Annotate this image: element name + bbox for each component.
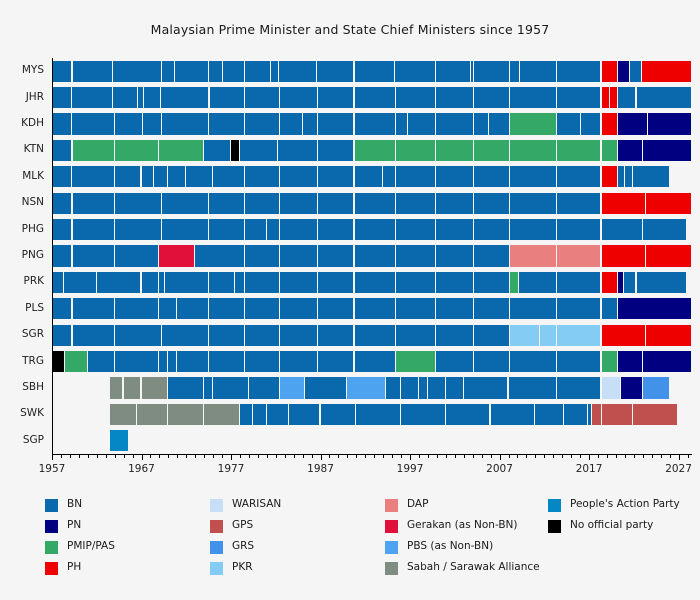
timeline-segment xyxy=(168,377,203,398)
timeline-segment xyxy=(396,113,407,134)
timeline-segment xyxy=(168,166,185,187)
timeline-segment xyxy=(177,298,207,319)
timeline-segment xyxy=(88,351,114,372)
timeline-chart: Malaysian Prime Minister and State Chief… xyxy=(0,0,700,600)
timeline-segment xyxy=(510,113,555,134)
timeline-segment xyxy=(162,113,207,134)
y-axis-label-nsn: NSN xyxy=(0,197,44,207)
chart-title: Malaysian Prime Minister and State Chief… xyxy=(0,22,700,37)
timeline-segment xyxy=(142,272,159,293)
timeline-segment xyxy=(318,87,354,108)
timeline-segment xyxy=(621,377,641,398)
timeline-segment xyxy=(446,377,463,398)
timeline-segment xyxy=(602,166,617,187)
timeline-segment xyxy=(602,404,631,425)
x-axis-tick-label: 1997 xyxy=(380,463,440,475)
timeline-segment xyxy=(408,113,435,134)
x-axis-tick-label: 2017 xyxy=(559,463,619,475)
timeline-segment xyxy=(52,61,71,82)
x-axis-tick xyxy=(500,454,501,460)
timeline-segment xyxy=(557,193,601,214)
timeline-segment xyxy=(213,377,248,398)
timeline-segment xyxy=(162,61,173,82)
timeline-segment xyxy=(318,245,354,266)
timeline-segment xyxy=(602,140,617,161)
timeline-segment xyxy=(159,351,167,372)
timeline-segment xyxy=(73,325,114,346)
timeline-segment xyxy=(138,87,143,108)
timeline-segment xyxy=(245,245,279,266)
timeline-segment xyxy=(110,430,128,451)
timeline-row-kdh xyxy=(52,113,692,134)
timeline-segment xyxy=(618,272,623,293)
x-axis-tick xyxy=(285,454,286,458)
timeline-segment xyxy=(280,219,316,240)
timeline-segment xyxy=(355,245,395,266)
timeline-segment xyxy=(209,61,222,82)
timeline-segment xyxy=(602,61,617,82)
x-axis-tick xyxy=(294,454,295,458)
x-axis-tick xyxy=(634,454,635,458)
timeline-segment xyxy=(115,193,161,214)
x-axis-tick xyxy=(455,454,456,458)
timeline-segment xyxy=(510,193,555,214)
timeline-segment xyxy=(474,140,509,161)
timeline-row-pls xyxy=(52,298,692,319)
legend-label: Gerakan (as Non-BN) xyxy=(407,519,518,531)
timeline-segment xyxy=(396,325,435,346)
timeline-segment xyxy=(557,325,601,346)
timeline-row-sgp xyxy=(52,430,692,451)
timeline-segment xyxy=(115,298,159,319)
timeline-segment xyxy=(602,272,617,293)
timeline-segment xyxy=(245,351,279,372)
timeline-segment xyxy=(321,404,356,425)
timeline-segment xyxy=(436,298,473,319)
timeline-segment xyxy=(209,351,245,372)
timeline-segment xyxy=(280,113,301,134)
timeline-segment xyxy=(471,61,473,82)
legend-label: PMIP/PAS xyxy=(67,540,115,552)
x-axis-tick xyxy=(356,454,357,458)
timeline-segment xyxy=(318,193,354,214)
timeline-segment xyxy=(428,377,445,398)
x-axis-tick xyxy=(213,454,214,458)
timeline-segment xyxy=(73,140,114,161)
timeline-segment xyxy=(510,298,555,319)
timeline-segment xyxy=(165,272,208,293)
legend-swatch-icon xyxy=(45,562,58,575)
timeline-segment xyxy=(245,87,279,108)
x-axis-tick xyxy=(142,454,143,460)
timeline-segment xyxy=(318,140,354,161)
timeline-segment xyxy=(557,351,601,372)
timeline-segment xyxy=(602,193,646,214)
x-axis-tick xyxy=(401,454,402,458)
timeline-segment xyxy=(279,61,315,82)
timeline-segment xyxy=(637,272,687,293)
x-axis-tick xyxy=(150,454,151,458)
timeline-segment xyxy=(436,219,473,240)
x-axis-tick xyxy=(598,454,599,458)
timeline-segment xyxy=(162,193,207,214)
timeline-segment xyxy=(73,219,114,240)
timeline-segment xyxy=(280,245,316,266)
x-axis-tick xyxy=(625,454,626,458)
timeline-row-trg xyxy=(52,351,692,372)
x-axis-tick xyxy=(329,454,330,458)
timeline-segment xyxy=(159,140,203,161)
timeline-segment xyxy=(643,219,687,240)
timeline-segment xyxy=(355,166,383,187)
timeline-segment xyxy=(209,113,245,134)
y-axis-label-prk: PRK xyxy=(0,276,44,286)
timeline-segment xyxy=(115,219,161,240)
timeline-row-phg xyxy=(52,219,692,240)
x-axis-tick xyxy=(195,454,196,458)
timeline-segment xyxy=(162,219,207,240)
x-axis-tick xyxy=(544,454,545,458)
timeline-segment xyxy=(355,298,395,319)
timeline-segment xyxy=(355,351,395,372)
timeline-segment xyxy=(110,377,122,398)
timeline-segment xyxy=(72,87,112,108)
timeline-segment xyxy=(474,351,509,372)
timeline-segment xyxy=(557,219,601,240)
x-axis-tick xyxy=(473,454,474,458)
legend-swatch-icon xyxy=(210,499,223,512)
timeline-segment xyxy=(278,140,316,161)
timeline-segment xyxy=(245,113,279,134)
timeline-segment xyxy=(401,404,445,425)
timeline-segment xyxy=(52,113,71,134)
timeline-segment xyxy=(73,61,112,82)
timeline-segment xyxy=(436,272,473,293)
timeline-segment xyxy=(210,87,245,108)
x-axis-tick xyxy=(553,454,554,458)
timeline-segment xyxy=(602,245,646,266)
timeline-segment xyxy=(245,193,279,214)
x-axis-tick xyxy=(464,454,465,458)
timeline-segment xyxy=(396,298,435,319)
timeline-segment xyxy=(646,325,691,346)
timeline-row-prk xyxy=(52,272,692,293)
x-axis-tick xyxy=(509,454,510,458)
timeline-segment xyxy=(64,272,96,293)
timeline-segment xyxy=(213,166,244,187)
x-axis-tick xyxy=(312,454,313,458)
timeline-segment xyxy=(154,166,167,187)
x-axis-tick xyxy=(688,454,689,458)
timeline-segment xyxy=(245,298,279,319)
timeline-segment xyxy=(474,298,509,319)
timeline-segment xyxy=(240,140,277,161)
timeline-segment xyxy=(113,87,137,108)
timeline-segment xyxy=(510,245,555,266)
timeline-segment xyxy=(633,404,678,425)
timeline-segment xyxy=(318,298,354,319)
timeline-segment xyxy=(557,61,601,82)
timeline-segment xyxy=(557,87,601,108)
timeline-segment xyxy=(436,61,470,82)
timeline-segment xyxy=(395,61,435,82)
y-axis-label-pls: PLS xyxy=(0,303,44,313)
legend-label: GRS xyxy=(232,540,254,552)
timeline-segment xyxy=(383,166,394,187)
timeline-segment xyxy=(509,377,556,398)
timeline-segment xyxy=(115,351,159,372)
timeline-segment xyxy=(161,87,208,108)
timeline-segment xyxy=(588,404,590,425)
timeline-segment xyxy=(557,298,601,319)
x-axis-tick xyxy=(491,454,492,458)
timeline-segment xyxy=(396,193,435,214)
timeline-segment xyxy=(355,61,394,82)
timeline-segment xyxy=(643,377,669,398)
x-axis-tick xyxy=(338,454,339,458)
timeline-segment xyxy=(204,404,239,425)
timeline-segment xyxy=(115,140,159,161)
x-axis-tick xyxy=(267,454,268,458)
x-axis-tick xyxy=(70,454,71,458)
timeline-segment xyxy=(280,351,316,372)
x-axis-tick xyxy=(571,454,572,458)
timeline-segment xyxy=(177,351,207,372)
timeline-segment xyxy=(72,166,114,187)
timeline-segment xyxy=(474,219,509,240)
x-axis-tick xyxy=(97,454,98,458)
timeline-segment xyxy=(142,377,168,398)
timeline-segment xyxy=(396,219,435,240)
x-axis-tick xyxy=(482,454,483,458)
x-axis-tick xyxy=(240,454,241,458)
timeline-segment xyxy=(240,404,252,425)
timeline-segment xyxy=(223,61,244,82)
timeline-segment xyxy=(592,404,602,425)
timeline-segment xyxy=(52,325,71,346)
timeline-segment xyxy=(446,404,490,425)
timeline-segment xyxy=(209,193,245,214)
timeline-segment xyxy=(204,140,230,161)
x-axis-tick xyxy=(428,454,429,458)
timeline-segment xyxy=(510,325,538,346)
timeline-segment xyxy=(137,404,167,425)
timeline-segment xyxy=(510,351,555,372)
timeline-segment xyxy=(143,113,161,134)
timeline-segment xyxy=(209,325,245,346)
timeline-segment xyxy=(355,87,395,108)
timeline-segment xyxy=(646,245,691,266)
x-axis-tick-label: 2007 xyxy=(470,463,530,475)
x-axis-tick xyxy=(643,454,644,458)
y-axis-label-sgr: SGR xyxy=(0,329,44,339)
timeline-segment xyxy=(436,351,473,372)
x-axis-tick xyxy=(383,454,384,458)
timeline-segment xyxy=(168,404,203,425)
timeline-segment xyxy=(280,193,316,214)
timeline-segment xyxy=(474,245,509,266)
chart-legend: BNPNPMIP/PASPHWARISANGPSGRSPKRDAPGerakan… xyxy=(0,496,700,576)
x-axis-tick xyxy=(437,454,438,458)
timeline-segment xyxy=(489,113,509,134)
y-axis-label-png: PNG xyxy=(0,250,44,260)
timeline-segment xyxy=(159,272,163,293)
timeline-segment xyxy=(535,404,563,425)
timeline-segment xyxy=(245,219,265,240)
timeline-segment xyxy=(510,140,555,161)
timeline-segment xyxy=(355,219,395,240)
timeline-segment xyxy=(602,377,621,398)
timeline-segment xyxy=(419,377,427,398)
timeline-segment xyxy=(630,61,641,82)
timeline-segment xyxy=(386,377,400,398)
timeline-segment xyxy=(557,377,601,398)
x-axis-tick xyxy=(321,454,322,460)
timeline-segment xyxy=(602,87,609,108)
timeline-segment xyxy=(73,245,114,266)
timeline-row-swk xyxy=(52,404,692,425)
legend-swatch-icon xyxy=(210,541,223,554)
x-axis-line xyxy=(52,454,692,455)
timeline-segment xyxy=(618,61,629,82)
x-axis-tick xyxy=(392,454,393,458)
x-axis-tick xyxy=(607,454,608,458)
legend-label: PH xyxy=(67,561,81,573)
legend-swatch-icon xyxy=(45,499,58,512)
timeline-segment xyxy=(624,272,635,293)
legend-swatch-icon xyxy=(385,562,398,575)
timeline-segment xyxy=(113,61,161,82)
y-axis-label-phg: PHG xyxy=(0,224,44,234)
timeline-segment xyxy=(643,140,691,161)
x-axis-tick xyxy=(222,454,223,458)
timeline-segment xyxy=(115,325,161,346)
timeline-segment xyxy=(436,245,473,266)
x-axis-tick xyxy=(670,454,671,458)
timeline-segment xyxy=(209,272,235,293)
timeline-segment xyxy=(581,113,600,134)
y-axis-label-kdh: KDH xyxy=(0,118,44,128)
y-axis-label-mys: MYS xyxy=(0,65,44,75)
timeline-segment xyxy=(110,404,136,425)
timeline-segment xyxy=(124,377,141,398)
x-axis-tick xyxy=(616,454,617,458)
x-axis-tick-label: 1967 xyxy=(112,463,172,475)
x-axis-tick xyxy=(249,454,250,458)
timeline-segment xyxy=(646,193,691,214)
timeline-row-ktn xyxy=(52,140,692,161)
timeline-segment xyxy=(52,272,63,293)
x-axis-tick xyxy=(303,454,304,458)
timeline-segment xyxy=(195,245,244,266)
timeline-segment xyxy=(642,61,691,82)
timeline-segment xyxy=(610,87,617,108)
timeline-segment xyxy=(557,245,601,266)
x-axis-tick xyxy=(258,454,259,458)
timeline-segment xyxy=(115,166,141,187)
timeline-segment xyxy=(159,245,194,266)
timeline-segment xyxy=(317,61,353,82)
x-axis-tick xyxy=(446,454,447,458)
timeline-segment xyxy=(510,219,555,240)
timeline-segment xyxy=(73,298,114,319)
timeline-row-mlk xyxy=(52,166,692,187)
x-axis-tick xyxy=(52,454,53,460)
x-axis-tick xyxy=(562,454,563,458)
timeline-row-png xyxy=(52,245,692,266)
timeline-segment xyxy=(355,113,395,134)
x-axis-tick xyxy=(535,454,536,458)
timeline-segment xyxy=(396,272,435,293)
timeline-segment xyxy=(436,87,473,108)
legend-label: GPS xyxy=(232,519,253,531)
timeline-segment xyxy=(643,351,691,372)
timeline-segment xyxy=(318,219,354,240)
timeline-segment xyxy=(318,325,354,346)
timeline-segment xyxy=(52,219,71,240)
legend-label: BN xyxy=(67,498,82,510)
timeline-segment xyxy=(618,87,636,108)
timeline-segment xyxy=(355,140,395,161)
timeline-row-jhr xyxy=(52,87,692,108)
x-axis-tick xyxy=(106,454,107,458)
x-axis-tick xyxy=(177,454,178,458)
legend-label: Sabah / Sarawak Alliance xyxy=(407,561,540,573)
timeline-segment xyxy=(72,113,114,134)
y-axis-label-sgp: SGP xyxy=(0,435,44,445)
legend-label: PN xyxy=(67,519,81,531)
timeline-segment xyxy=(318,166,354,187)
x-axis-tick xyxy=(652,454,653,458)
legend-swatch-icon xyxy=(210,520,223,533)
timeline-segment xyxy=(144,87,160,108)
timeline-segment xyxy=(52,87,71,108)
timeline-segment xyxy=(564,404,587,425)
timeline-segment xyxy=(618,113,647,134)
timeline-segment xyxy=(602,113,617,134)
timeline-segment xyxy=(436,193,473,214)
timeline-segment xyxy=(245,61,270,82)
x-axis-tick xyxy=(276,454,277,458)
timeline-segment xyxy=(474,87,509,108)
y-axis-label-swk: SWK xyxy=(0,408,44,418)
timeline-segment xyxy=(557,272,601,293)
x-axis-tick xyxy=(88,454,89,458)
y-axis-label-trg: TRG xyxy=(0,356,44,366)
legend-swatch-icon xyxy=(385,499,398,512)
x-axis-tick xyxy=(679,454,680,460)
legend-label: People's Action Party xyxy=(570,498,680,510)
timeline-segment xyxy=(436,113,473,134)
timeline-segment xyxy=(355,193,395,214)
timeline-segment xyxy=(618,351,642,372)
timeline-segment xyxy=(318,351,354,372)
timeline-segment xyxy=(318,113,354,134)
timeline-segment xyxy=(280,272,316,293)
timeline-segment xyxy=(73,193,114,214)
timeline-row-mys xyxy=(52,61,692,82)
timeline-segment xyxy=(52,166,71,187)
timeline-segment xyxy=(52,193,71,214)
timeline-segment xyxy=(168,351,176,372)
timeline-segment xyxy=(175,61,208,82)
timeline-segment xyxy=(52,351,64,372)
timeline-segment xyxy=(396,166,435,187)
timeline-segment xyxy=(491,404,535,425)
y-axis-label-sbh: SBH xyxy=(0,382,44,392)
timeline-row-sbh xyxy=(52,377,692,398)
timeline-segment xyxy=(436,140,473,161)
